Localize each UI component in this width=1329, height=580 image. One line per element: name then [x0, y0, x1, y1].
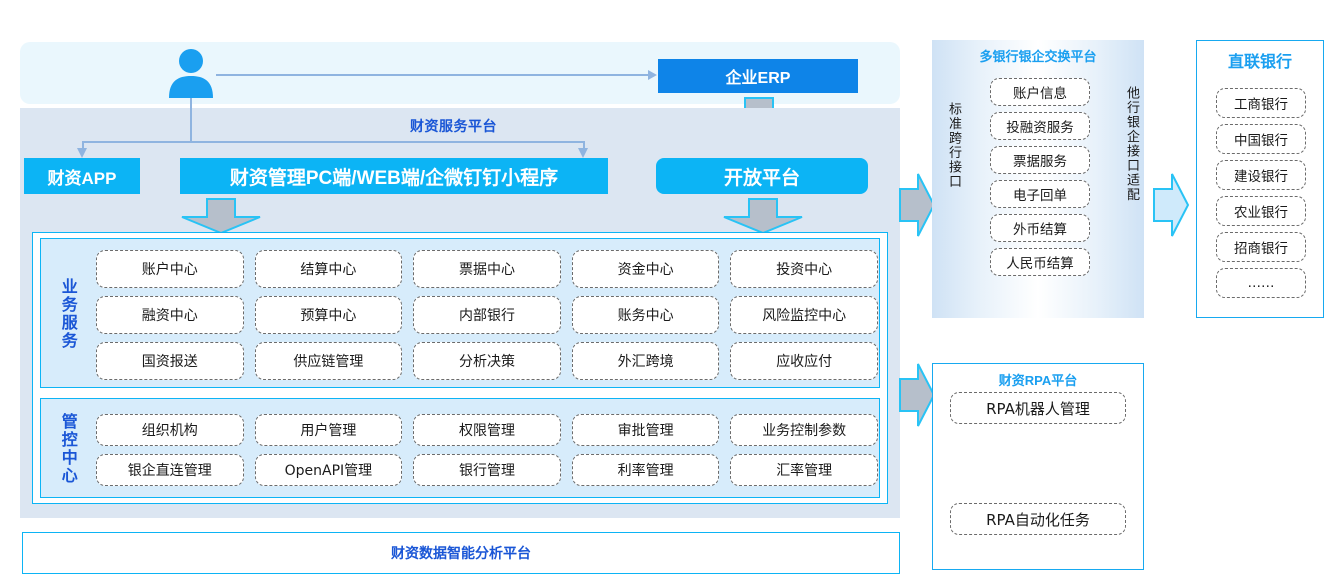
business-cell[interactable]: 分析决策	[413, 342, 561, 380]
channel-pc-box[interactable]: 财资管理PC端/WEB端/企微钉钉小程序	[180, 158, 608, 194]
channels-down-arrow	[180, 198, 262, 234]
direct-bank-title: 直联银行	[1196, 48, 1324, 72]
control-cell[interactable]: 权限管理	[413, 414, 561, 446]
business-cell[interactable]: 账务中心	[572, 296, 720, 334]
erp-box[interactable]: 企业ERP	[658, 59, 858, 93]
platform-to-rpa-arrow	[898, 362, 936, 428]
control-cell[interactable]: 银企直连管理	[96, 454, 244, 486]
user-erp-connector	[216, 74, 648, 76]
multi-bank-item[interactable]: 电子回单	[990, 180, 1090, 208]
multi-bank-title: 多银行银企交换平台	[932, 46, 1144, 65]
arrow-to-pc	[578, 148, 588, 158]
multi-bank-item[interactable]: 投融资服务	[990, 112, 1090, 140]
standard-interbank-interface-label: 标准跨行接口	[944, 102, 963, 252]
business-cell[interactable]: 预算中心	[255, 296, 403, 334]
control-cell[interactable]: 用户管理	[255, 414, 403, 446]
open-platform-down-arrow	[722, 198, 804, 234]
multi-bank-service-list: 账户信息 投融资服务 票据服务 电子回单 外币结算 人民币结算	[990, 78, 1090, 282]
control-cell[interactable]: 审批管理	[572, 414, 720, 446]
channel-app-box[interactable]: 财资APP	[24, 158, 140, 194]
business-cell[interactable]: 融资中心	[96, 296, 244, 334]
direct-bank-list: 工商银行 中国银行 建设银行 农业银行 招商银行 ……	[1216, 88, 1306, 304]
data-analysis-platform-bar: 财资数据智能分析平台	[22, 532, 900, 574]
architecture-diagram: 企业ERP 财资服务平台 财资APP 财资管理PC端/WEB端/企微钉钉小程序 …	[0, 0, 1329, 580]
channel-branch-line	[82, 141, 584, 143]
control-cell[interactable]: OpenAPI管理	[255, 454, 403, 486]
control-cell[interactable]: 业务控制参数	[730, 414, 878, 446]
rpa-item[interactable]: RPA自动化任务	[950, 503, 1126, 535]
business-services-grid: 账户中心 结算中心 票据中心 资金中心 投资中心 融资中心 预算中心 内部银行 …	[96, 250, 878, 380]
multi-bank-item[interactable]: 账户信息	[990, 78, 1090, 106]
multi-bank-item[interactable]: 票据服务	[990, 146, 1090, 174]
multi-bank-item[interactable]: 外币结算	[990, 214, 1090, 242]
business-cell[interactable]: 内部银行	[413, 296, 561, 334]
channel-open-platform-box[interactable]: 开放平台	[656, 158, 868, 194]
business-cell[interactable]: 国资报送	[96, 342, 244, 380]
direct-bank-item[interactable]: 工商银行	[1216, 88, 1306, 118]
user-trunk-line	[190, 98, 192, 142]
control-cell[interactable]: 汇率管理	[730, 454, 878, 486]
business-cell[interactable]: 资金中心	[572, 250, 720, 288]
business-cell[interactable]: 结算中心	[255, 250, 403, 288]
control-cell[interactable]: 银行管理	[413, 454, 561, 486]
multi-bank-item[interactable]: 人民币结算	[990, 248, 1090, 276]
control-cell[interactable]: 利率管理	[572, 454, 720, 486]
direct-bank-item[interactable]: 农业银行	[1216, 196, 1306, 226]
business-cell[interactable]: 投资中心	[730, 250, 878, 288]
direct-bank-item[interactable]: 建设银行	[1216, 160, 1306, 190]
control-cell[interactable]: 组织机构	[96, 414, 244, 446]
user-icon	[168, 48, 214, 98]
business-services-label: 业务服务	[58, 256, 75, 372]
user-erp-arrowhead	[648, 70, 657, 80]
business-cell[interactable]: 账户中心	[96, 250, 244, 288]
business-cell[interactable]: 票据中心	[413, 250, 561, 288]
platform-to-multibank-arrow	[898, 172, 936, 238]
direct-bank-item-more[interactable]: ……	[1216, 268, 1306, 298]
rpa-item[interactable]: RPA机器人管理	[950, 392, 1126, 424]
platform-title: 财资服务平台	[410, 116, 497, 136]
multibank-to-directbank-arrow	[1152, 172, 1190, 238]
arrow-to-app	[77, 148, 87, 158]
direct-bank-item[interactable]: 中国银行	[1216, 124, 1306, 154]
business-cell[interactable]: 外汇跨境	[572, 342, 720, 380]
control-center-grid: 组织机构 用户管理 权限管理 审批管理 业务控制参数 银企直连管理 OpenAP…	[96, 414, 878, 486]
business-cell[interactable]: 风险监控中心	[730, 296, 878, 334]
business-cell[interactable]: 供应链管理	[255, 342, 403, 380]
control-center-label: 管控中心	[58, 408, 75, 490]
business-cell[interactable]: 应收应付	[730, 342, 878, 380]
rpa-platform-title: 财资RPA平台	[932, 370, 1144, 389]
direct-bank-item[interactable]: 招商银行	[1216, 232, 1306, 262]
other-bank-interface-adapter-label: 他行银企接口适配	[1122, 86, 1141, 270]
